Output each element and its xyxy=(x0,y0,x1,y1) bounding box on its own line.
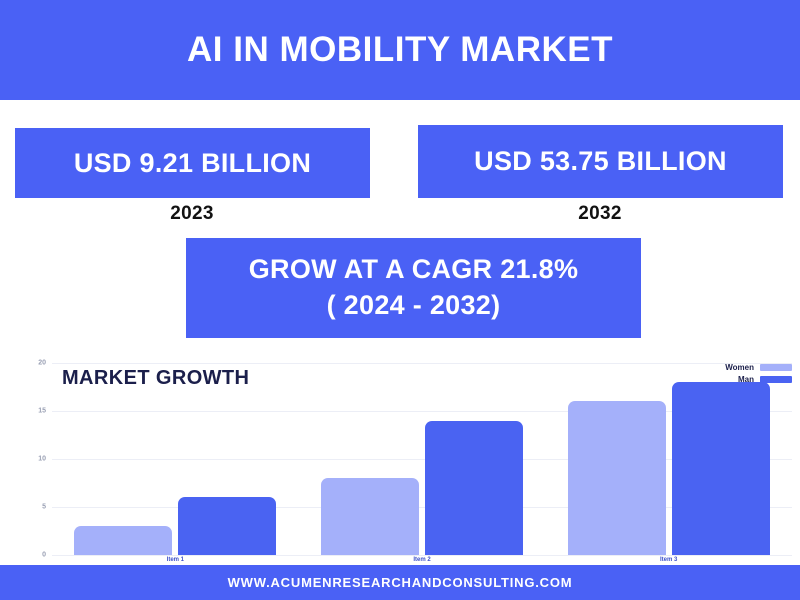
infographic-canvas: AI IN MOBILITY MARKET USD 9.21 BILLION 2… xyxy=(0,0,800,600)
chart-y-tick-label: 0 xyxy=(42,552,46,559)
footer-website-url: WWW.ACUMENRESEARCHANDCONSULTING.COM xyxy=(228,575,573,590)
legend-item-women: Women xyxy=(725,363,792,372)
page-title: AI IN MOBILITY MARKET xyxy=(187,30,613,70)
chart-x-tick-label: Item 3 xyxy=(660,557,677,563)
metric-value-forecast-year: USD 53.75 BILLION xyxy=(474,146,727,177)
chart-bar xyxy=(672,382,770,555)
metric-card-forecast-year: USD 53.75 BILLION xyxy=(418,125,783,198)
chart-y-tick-label: 5 xyxy=(42,504,46,511)
chart-bar xyxy=(568,401,666,555)
chart-bar xyxy=(425,421,523,555)
cagr-period-text: ( 2024 - 2032) xyxy=(327,289,501,323)
chart-bar xyxy=(178,497,276,555)
legend-item-man: Man xyxy=(725,375,792,384)
cagr-rate-text: GROW AT A CAGR 21.8% xyxy=(249,253,579,287)
market-growth-chart: MARKET GROWTH Women Man 05101520Item 1It… xyxy=(0,355,800,565)
legend-label-man: Man xyxy=(738,375,754,384)
chart-plot-area: 05101520Item 1Item 2Item 3 xyxy=(52,363,792,555)
chart-gridline: 20 xyxy=(52,363,792,364)
chart-y-tick-label: 10 xyxy=(38,456,46,463)
legend-swatch-man xyxy=(760,376,792,383)
metric-year-forecast: 2032 xyxy=(500,203,700,225)
metric-value-base-year: USD 9.21 BILLION xyxy=(74,148,311,179)
chart-y-tick-label: 15 xyxy=(38,408,46,415)
legend-label-women: Women xyxy=(725,363,754,372)
chart-gridline: 0 xyxy=(52,555,792,556)
metric-card-base-year: USD 9.21 BILLION xyxy=(15,128,370,198)
chart-title: MARKET GROWTH xyxy=(62,367,249,390)
chart-x-tick-label: Item 1 xyxy=(167,557,184,563)
chart-x-tick-label: Item 2 xyxy=(413,557,430,563)
metric-year-base: 2023 xyxy=(92,203,292,225)
header-banner: AI IN MOBILITY MARKET xyxy=(0,0,800,100)
cagr-card: GROW AT A CAGR 21.8% ( 2024 - 2032) xyxy=(186,238,641,338)
chart-y-tick-label: 20 xyxy=(38,360,46,367)
legend-swatch-women xyxy=(760,364,792,371)
chart-legend: Women Man xyxy=(725,363,792,384)
chart-bar xyxy=(321,478,419,555)
chart-bar xyxy=(74,526,172,555)
footer-banner: WWW.ACUMENRESEARCHANDCONSULTING.COM xyxy=(0,565,800,600)
